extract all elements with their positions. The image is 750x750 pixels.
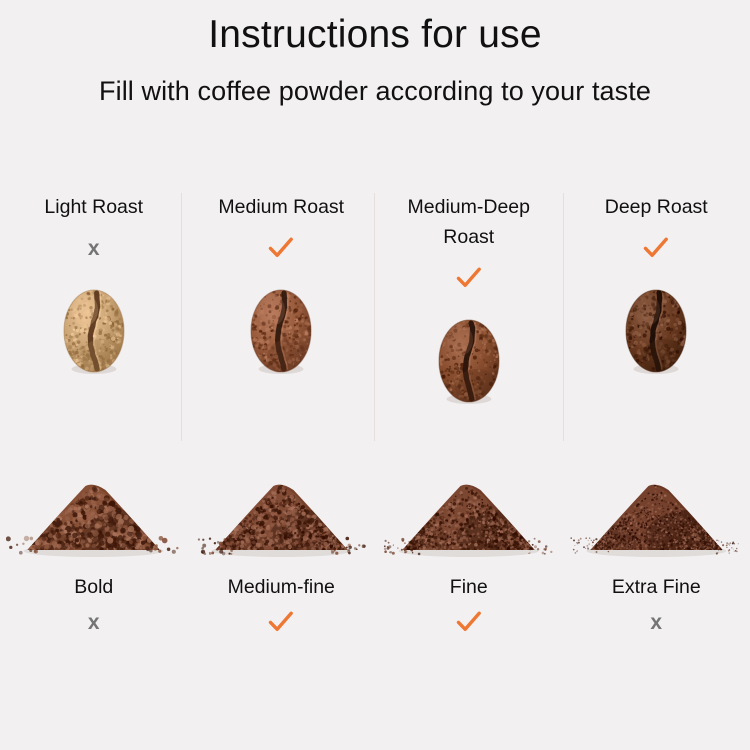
coffee-grounds-extra-fine-icon xyxy=(569,470,744,562)
coffee-bean-medium-icon xyxy=(235,277,327,385)
grind-label: Fine xyxy=(450,575,488,599)
roast-column-4[interactable]: Deep Roast xyxy=(563,192,750,442)
grind-column-1[interactable]: Boldx xyxy=(0,470,188,680)
cross-icon: x xyxy=(88,608,100,636)
check-icon xyxy=(268,608,294,636)
cross-icon: x xyxy=(650,608,662,636)
grind-column-2[interactable]: Medium-fine xyxy=(188,470,376,680)
coffee-bean-light-icon xyxy=(48,277,140,385)
page-title: Instructions for use xyxy=(0,0,750,57)
coffee-bean-medium-deep-icon xyxy=(423,307,515,415)
header: Instructions for use Fill with coffee po… xyxy=(0,0,750,107)
roast-column-2[interactable]: Medium Roast xyxy=(188,192,376,442)
roast-label: Medium Roast xyxy=(218,192,344,222)
coffee-grounds-coarse-icon xyxy=(6,470,181,562)
page-subtitle: Fill with coffee powder according to you… xyxy=(0,57,750,107)
grind-label: Bold xyxy=(74,575,113,599)
check-icon xyxy=(456,263,482,293)
cross-glyph: x xyxy=(88,612,100,633)
grind-column-3[interactable]: Fine xyxy=(375,470,563,680)
cross-icon: x xyxy=(88,233,100,263)
grind-column-4[interactable]: Extra Finex xyxy=(563,470,750,680)
cross-glyph: x xyxy=(88,238,100,259)
coffee-grounds-medium-fine-icon xyxy=(194,470,369,562)
roast-column-1[interactable]: Light Roastx xyxy=(0,192,188,442)
grind-label: Medium-fine xyxy=(228,575,335,599)
roast-column-3[interactable]: Medium-Deep Roast xyxy=(375,192,563,442)
roast-label: Light Roast xyxy=(44,192,143,222)
check-icon xyxy=(456,608,482,636)
check-icon xyxy=(268,233,294,263)
coffee-grounds-fine-icon xyxy=(381,470,556,562)
roast-label: Medium-Deep Roast xyxy=(389,192,549,252)
check-icon xyxy=(643,233,669,263)
coffee-bean-deep-icon xyxy=(610,277,702,385)
grind-label: Extra Fine xyxy=(612,575,701,599)
cross-glyph: x xyxy=(650,612,662,633)
grind-row: BoldxMedium-fineFineExtra Finex xyxy=(0,470,750,680)
roast-row: Light RoastxMedium RoastMedium-Deep Roas… xyxy=(0,192,750,442)
roast-label: Deep Roast xyxy=(605,192,708,222)
